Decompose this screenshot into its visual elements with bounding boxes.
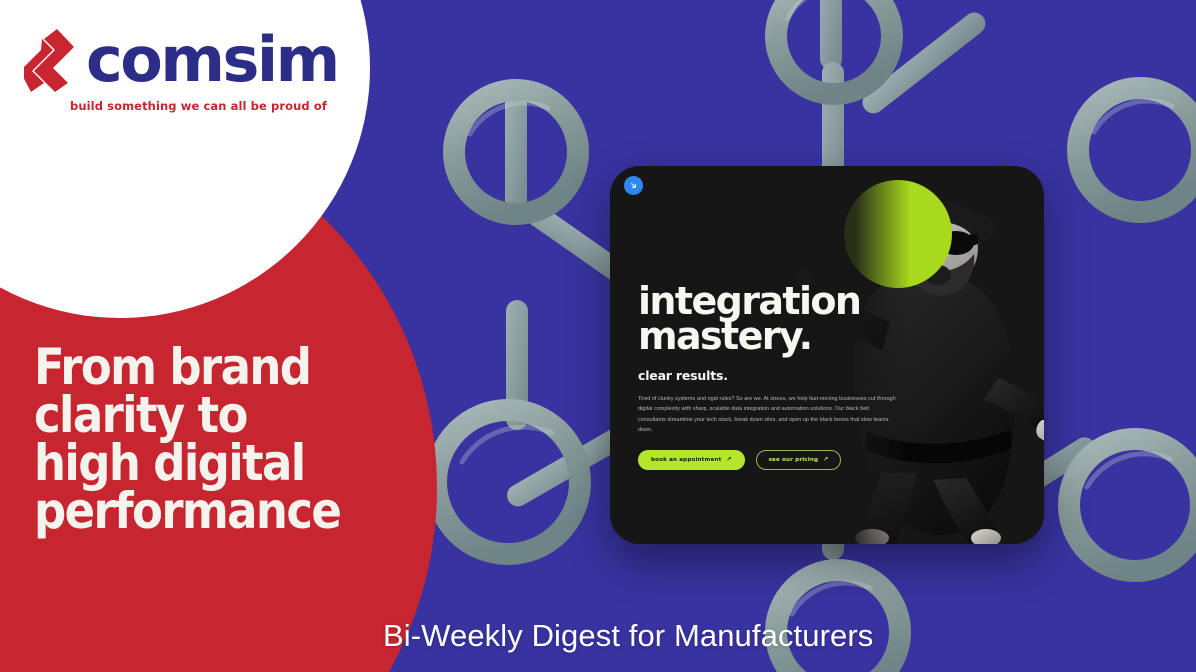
arrow-up-right-icon: ↗ xyxy=(726,457,731,463)
headline-line-1: From brand xyxy=(34,343,349,391)
book-appointment-button[interactable]: book an appointment ↗ xyxy=(638,450,745,470)
mockup-button-row: book an appointment ↗ see our pricing ↗ xyxy=(638,450,1044,470)
headline: From brand clarity to high digital perfo… xyxy=(34,343,349,535)
mockup-subheading: clear results. xyxy=(638,368,1044,383)
digest-caption: Bi-Weekly Digest for Manufacturers xyxy=(383,618,873,654)
mockup-body-text: Tired of clunky systems and rigid rules?… xyxy=(638,394,896,436)
book-appointment-label: book an appointment xyxy=(651,457,721,463)
arrow-up-right-icon: ↗ xyxy=(823,457,828,463)
arrow-down-right-icon[interactable] xyxy=(624,176,643,195)
brand-wordmark: comsim xyxy=(86,31,338,88)
see-pricing-button[interactable]: see our pricing ↗ xyxy=(756,450,842,470)
mockup-content: integration mastery. clear results. Tire… xyxy=(610,166,1044,544)
website-mockup-card[interactable]: integration mastery. clear results. Tire… xyxy=(610,166,1044,544)
double-chevron-arrow-icon xyxy=(24,26,78,94)
headline-line-2: clarity to xyxy=(34,391,349,439)
brand-logo[interactable]: comsim build something we can all be pro… xyxy=(24,26,324,126)
mockup-heading: integration mastery. xyxy=(638,284,1044,355)
banner-canvas: comsim build something we can all be pro… xyxy=(0,0,1196,672)
brand-tagline: build something we can all be proud of xyxy=(70,99,324,113)
headline-line-4: performance xyxy=(34,487,349,535)
headline-line-3: high digital xyxy=(34,439,349,487)
mockup-heading-line-2: mastery. xyxy=(638,319,1044,354)
see-pricing-label: see our pricing xyxy=(769,457,819,463)
